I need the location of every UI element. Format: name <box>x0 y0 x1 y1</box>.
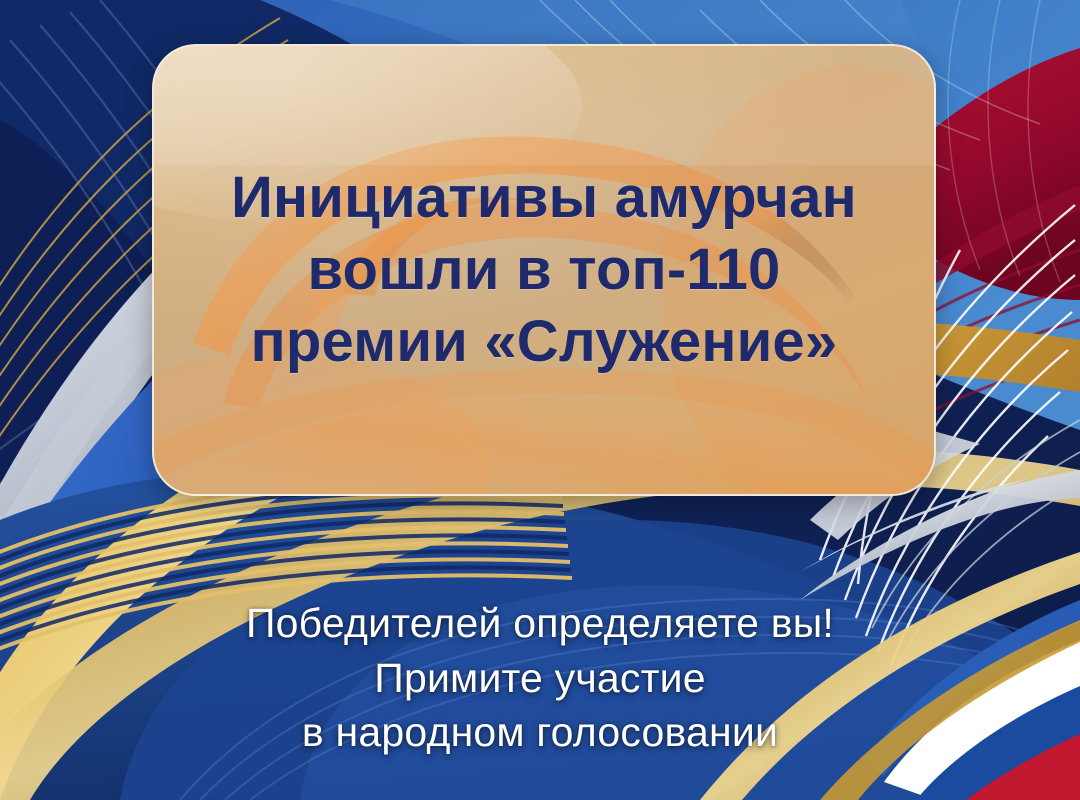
caption-block: Победителей определяете вы! Примите учас… <box>0 596 1080 760</box>
headline-block: Инициативы амурчан вошли в топ-110 преми… <box>154 46 934 494</box>
headline-line-1: Инициативы амурчан <box>231 165 857 231</box>
caption-line-1: Победителей определяете вы! <box>0 596 1080 651</box>
headline-card: Инициативы амурчан вошли в топ-110 преми… <box>152 44 936 496</box>
caption-line-2: Примите участие <box>0 651 1080 706</box>
caption-line-3: в народном голосовании <box>0 705 1080 760</box>
poster: Инициативы амурчан вошли в топ-110 преми… <box>0 0 1080 800</box>
headline-line-2: вошли в топ-110 <box>307 237 780 303</box>
headline-line-3: премии «Служение» <box>251 309 838 375</box>
